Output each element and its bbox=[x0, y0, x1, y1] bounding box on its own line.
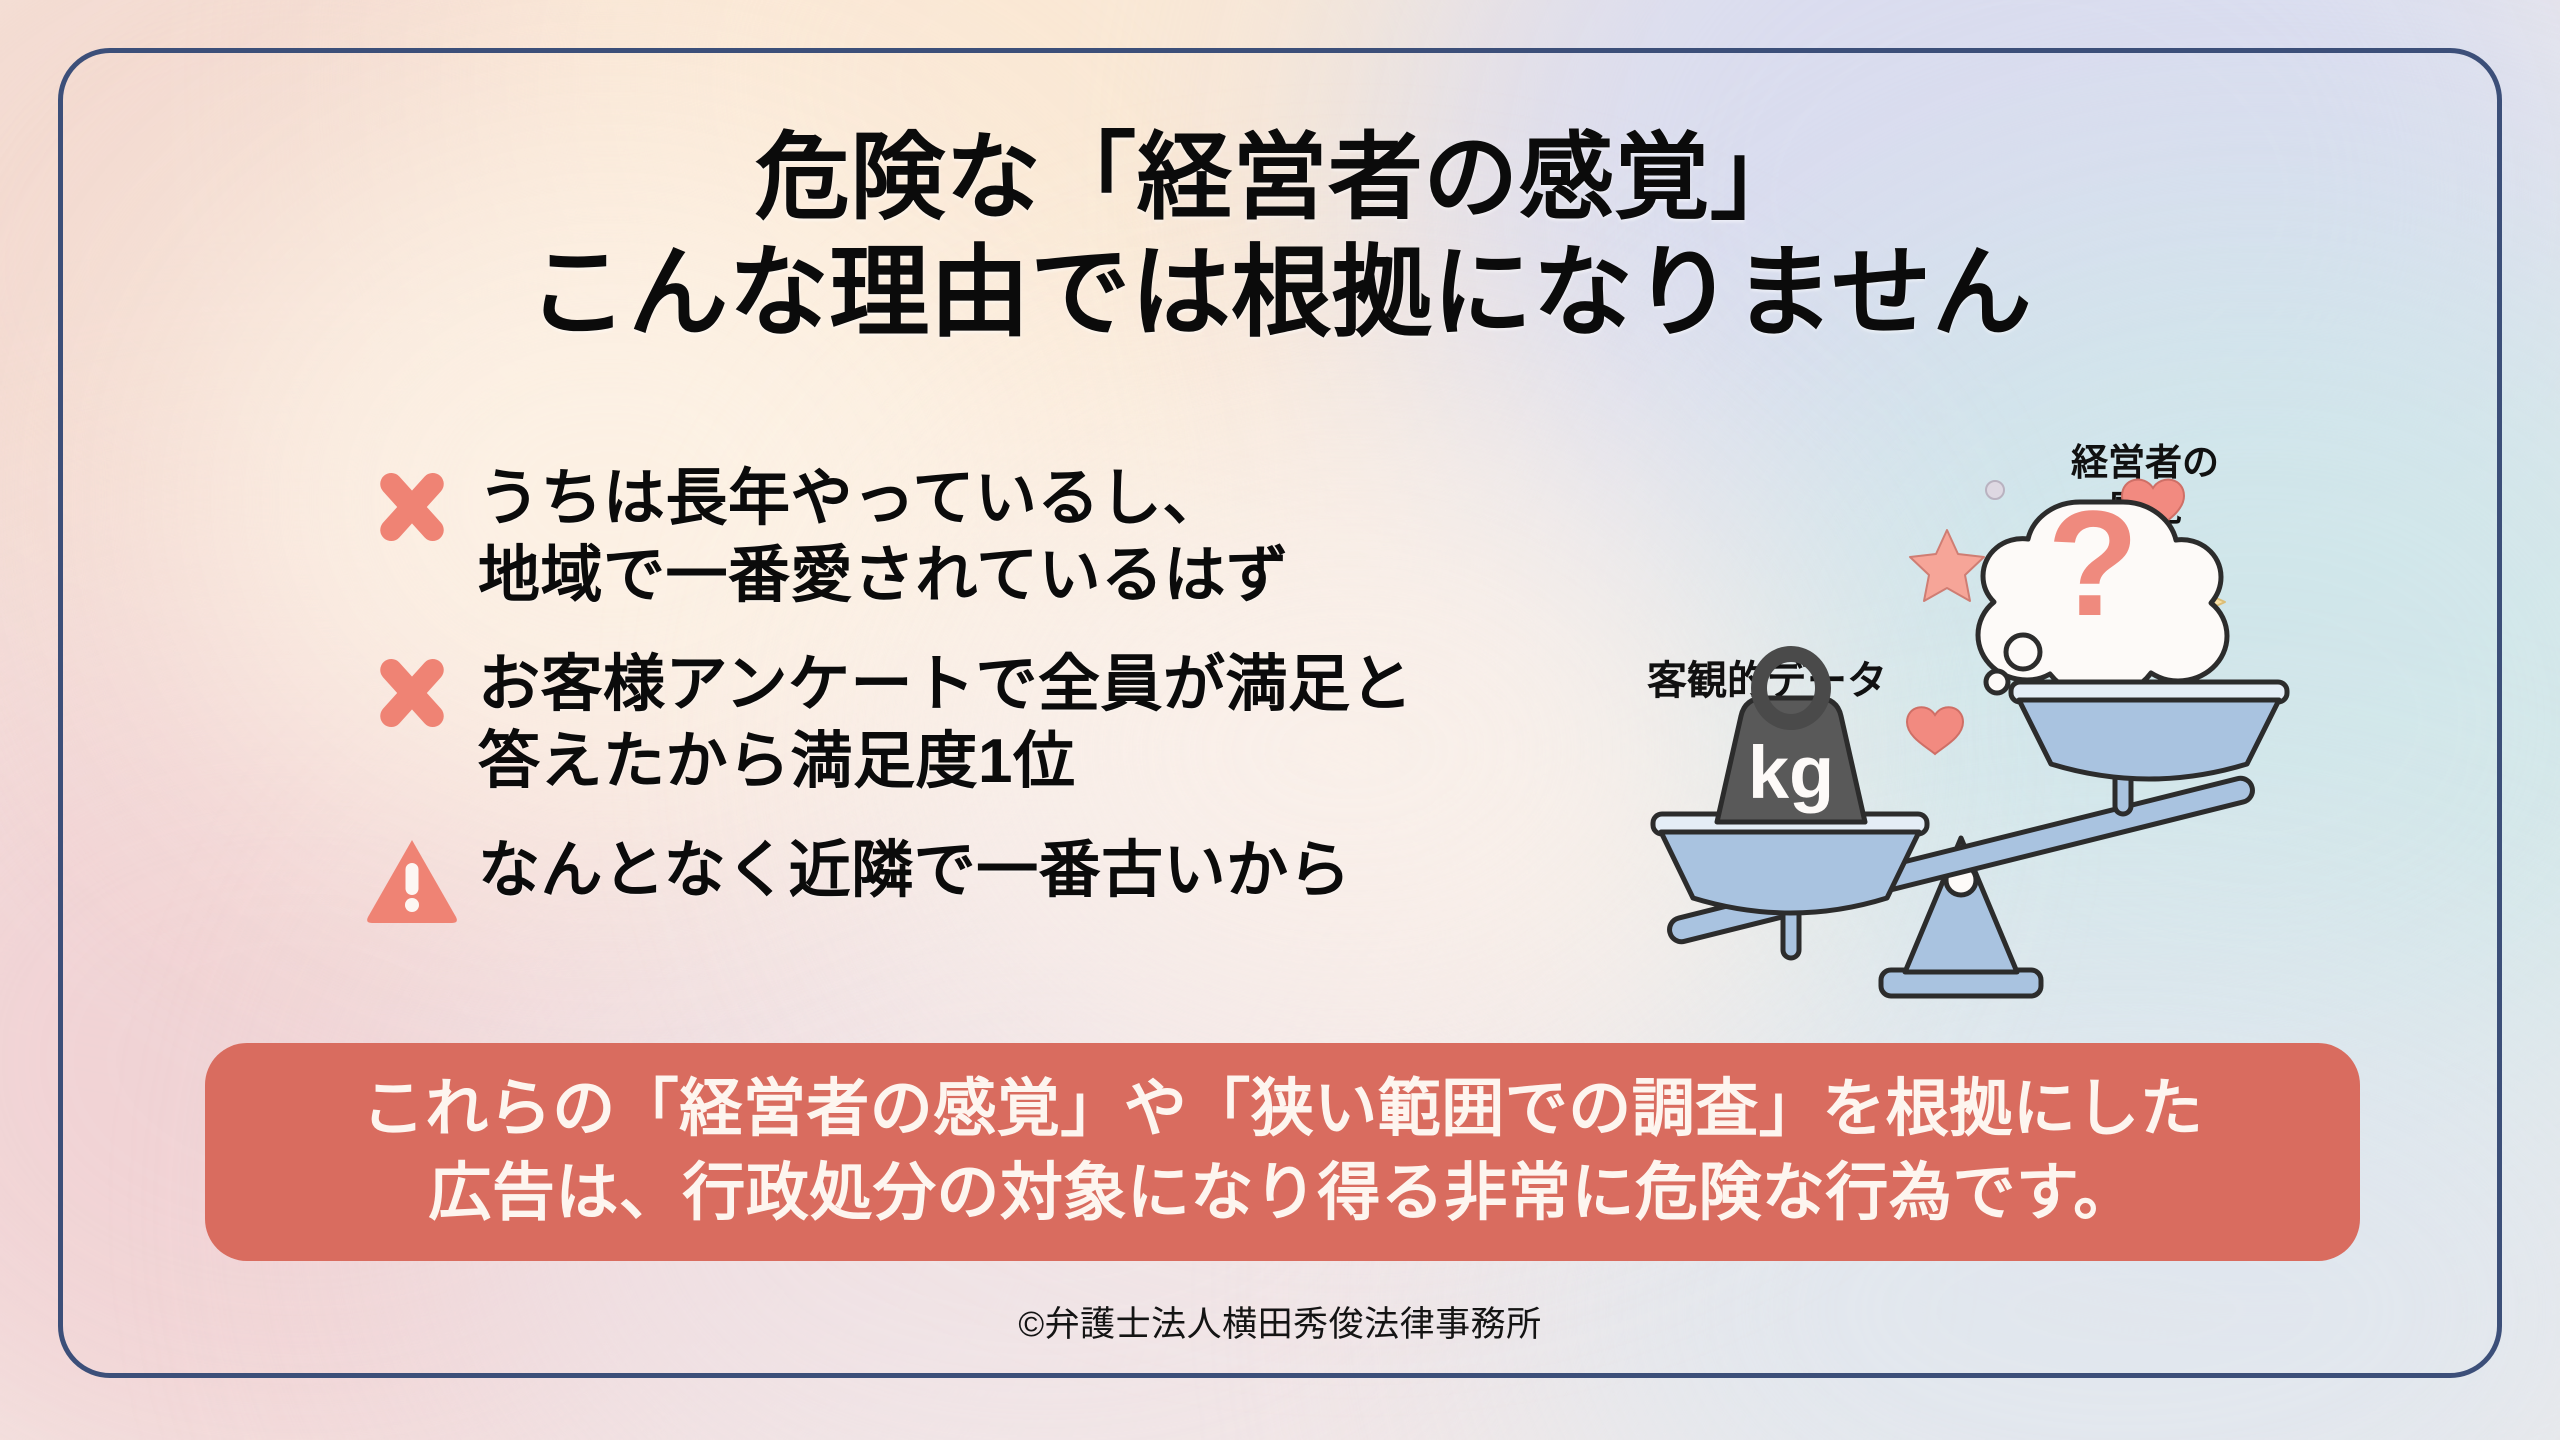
svg-text:?: ? bbox=[2047, 479, 2139, 647]
page-title: 危険な「経営者の感覚」 こんな理由では根拠になりません bbox=[0, 125, 2560, 349]
list-item-text: なんとなく近隣で一番古いから bbox=[478, 827, 1351, 910]
list-item-line: うちは長年やっているし、 bbox=[478, 461, 1289, 538]
warning-icon bbox=[360, 827, 464, 931]
list-item-line: なんとなく近隣で一番古いから bbox=[478, 833, 1351, 910]
list-item-text: お客様アンケートで全員が満足と 答えたから満足度1位 bbox=[478, 641, 1413, 801]
svg-text:kg: kg bbox=[1748, 731, 1834, 814]
warning-banner: これらの「経営者の感覚」や「狭い範囲での調査」を根拠にした 広告は、行政処分の対… bbox=[205, 1043, 2360, 1261]
cross-icon bbox=[360, 455, 464, 559]
reason-list: うちは長年やっているし、 地域で一番愛されているはず お客様アンケートで全員が満… bbox=[360, 455, 1630, 957]
copyright-credit: ©弁護士法人横田秀俊法律事務所 bbox=[0, 1296, 2560, 1347]
list-item: うちは長年やっているし、 地域で一番愛されているはず bbox=[360, 455, 1630, 615]
list-item: お客様アンケートで全員が満足と 答えたから満足度1位 bbox=[360, 641, 1630, 801]
page-title-line-1: 危険な「経営者の感覚」 bbox=[755, 125, 1806, 231]
infographic-canvas: 危険な「経営者の感覚」 こんな理由では根拠になりません うちは長年やっているし、… bbox=[0, 0, 2560, 1440]
page-title-line-2: こんな理由では根拠になりません bbox=[0, 237, 2560, 349]
warning-banner-line-1: これらの「経営者の感覚」や「狭い範囲での調査」を根拠にした bbox=[362, 1068, 2204, 1152]
list-item-line: お客様アンケートで全員が満足と bbox=[478, 647, 1413, 724]
list-item-text: うちは長年やっているし、 地域で一番愛されているはず bbox=[478, 455, 1289, 615]
warning-banner-line-2: 広告は、行政処分の対象になり得る非常に危険な行為です。 bbox=[428, 1152, 2136, 1236]
list-item-line: 答えたから満足度1位 bbox=[478, 724, 1413, 801]
balance-scale-illustration: 客観的データ 経営者の 感覚 ? bbox=[1625, 430, 2385, 1010]
cross-icon bbox=[360, 641, 464, 745]
list-item-line: 地域で一番愛されているはず bbox=[478, 538, 1289, 615]
list-item: なんとなく近隣で一番古いから bbox=[360, 827, 1630, 931]
